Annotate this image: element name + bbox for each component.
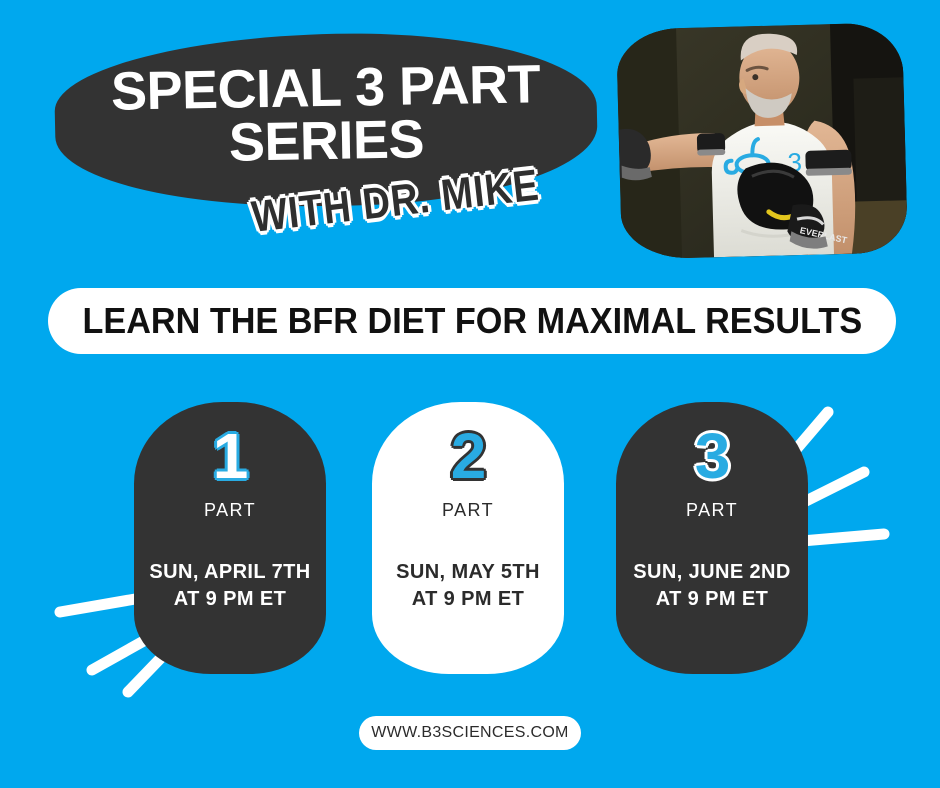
part-number-3: 3: [695, 424, 730, 488]
part-card-2[interactable]: 2 PART SUN, MAY 5TH AT 9 PM ET: [372, 402, 564, 674]
headline-banner: LEARN THE BFR DIET FOR MAXIMAL RESULTS: [48, 288, 896, 354]
part-date-2: SUN, MAY 5TH AT 9 PM ET: [396, 559, 540, 613]
part-date-line2-3: AT 9 PM ET: [656, 588, 769, 610]
headline-text: LEARN THE BFR DIET FOR MAXIMAL RESULTS: [82, 300, 862, 342]
part-date-line2-2: AT 9 PM ET: [412, 588, 525, 610]
part-date-line1-1: SUN, APRIL 7TH: [149, 561, 310, 583]
footer-url-text: WWW.B3SCIENCES.COM: [371, 724, 568, 742]
part-label-2: PART: [442, 500, 494, 521]
part-date-line2-1: AT 9 PM ET: [174, 588, 287, 610]
page-title: SPECIAL 3 PART SERIES: [69, 58, 583, 173]
part-number-1: 1: [213, 424, 248, 488]
part-date-line1-2: SUN, MAY 5TH: [396, 561, 540, 583]
part-card-1[interactable]: 1 PART SUN, APRIL 7TH AT 9 PM ET: [134, 402, 326, 674]
part-date-line1-3: SUN, JUNE 2ND: [633, 561, 790, 583]
part-card-3[interactable]: 3 PART SUN, JUNE 2ND AT 9 PM ET: [616, 402, 808, 674]
part-label-3: PART: [686, 500, 738, 521]
part-date-3: SUN, JUNE 2ND AT 9 PM ET: [633, 559, 790, 613]
part-number-2: 2: [451, 424, 486, 488]
part-date-1: SUN, APRIL 7TH AT 9 PM ET: [149, 559, 310, 613]
part-label-1: PART: [204, 500, 256, 521]
footer-url-pill[interactable]: WWW.B3SCIENCES.COM: [359, 716, 581, 750]
dr-mike-boxing-photo: 3 EVERLAST: [616, 22, 908, 259]
promo-poster: SPECIAL 3 PART SERIES WITH DR. MIKE: [0, 0, 940, 788]
